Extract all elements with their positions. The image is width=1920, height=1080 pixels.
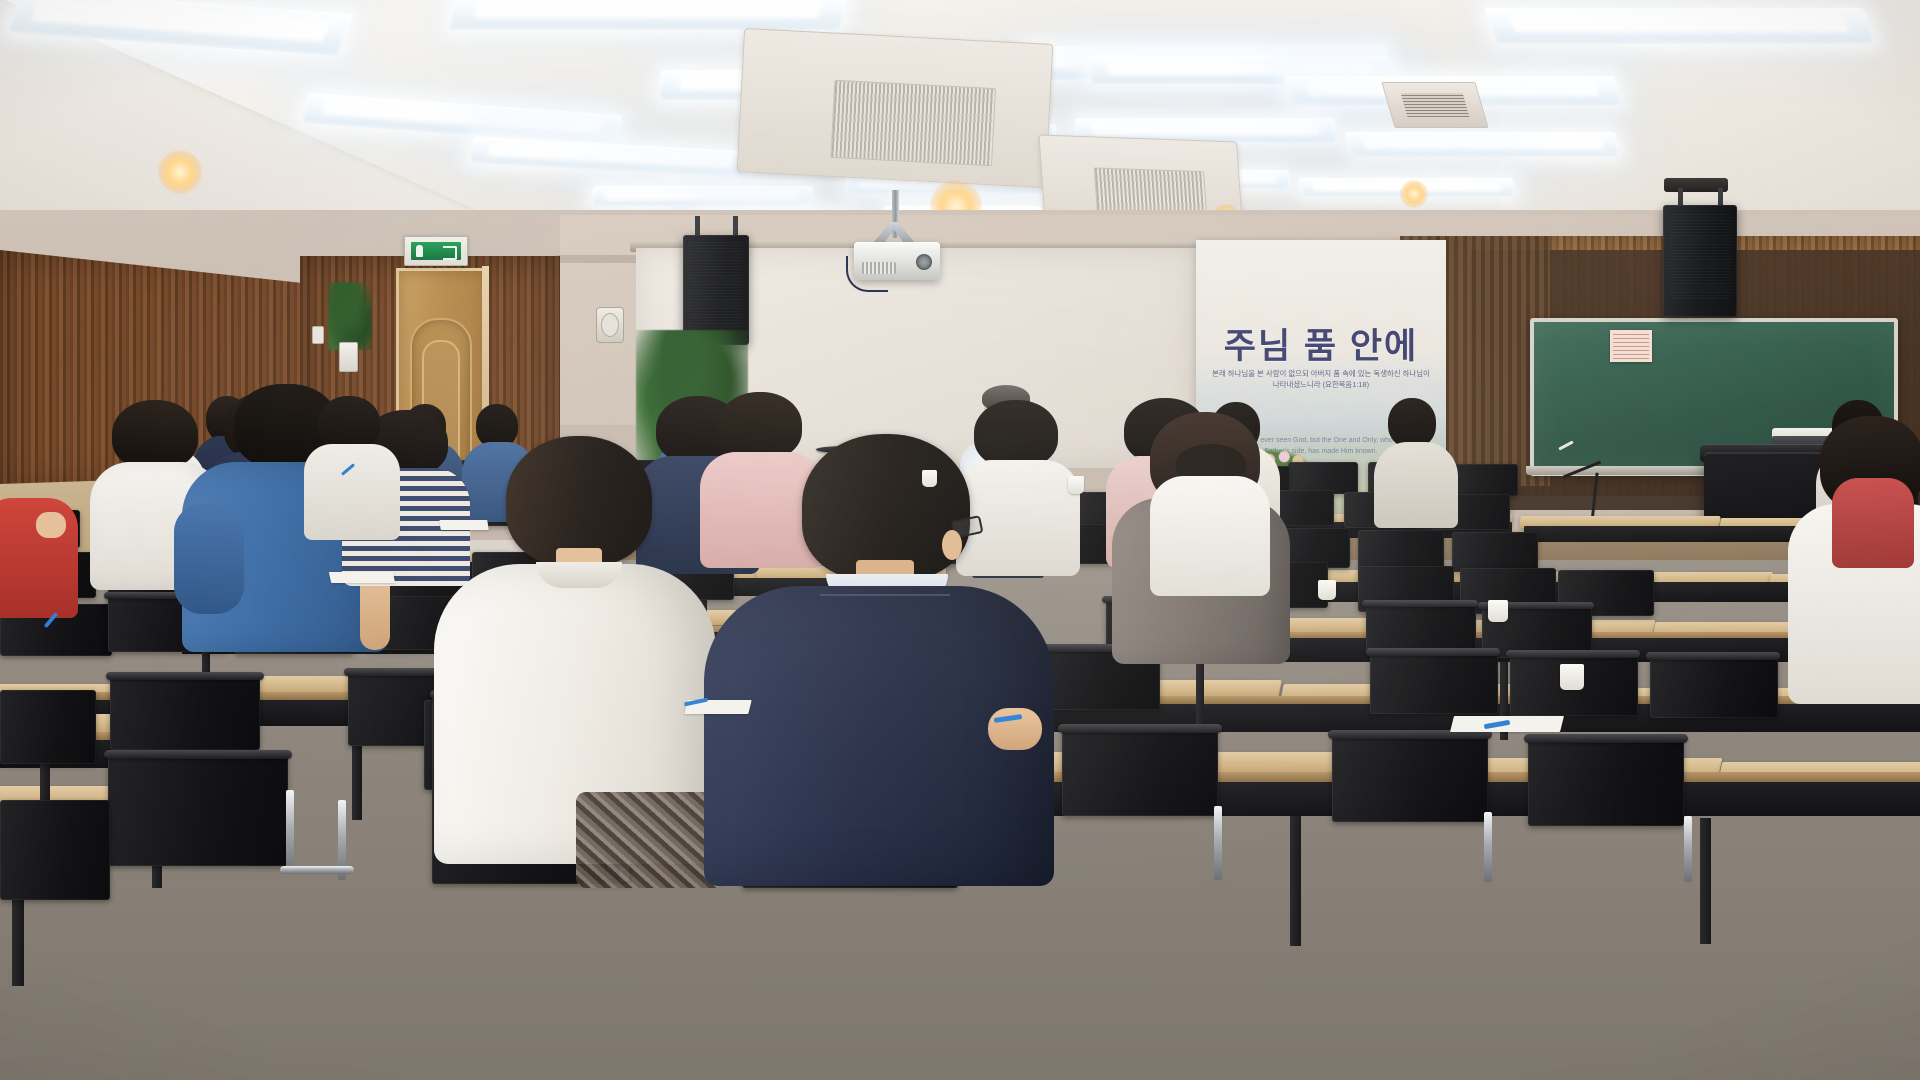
chair-leg bbox=[286, 790, 294, 874]
person-back-right-2 bbox=[1376, 398, 1448, 508]
chair[interactable] bbox=[1528, 740, 1684, 826]
chair-rail bbox=[1362, 600, 1478, 607]
ac-cassette bbox=[737, 28, 1054, 188]
paper-cup[interactable] bbox=[1318, 580, 1336, 600]
hair bbox=[112, 400, 198, 470]
hair bbox=[802, 434, 970, 580]
ceiling-vent bbox=[1381, 82, 1488, 128]
chair[interactable] bbox=[1332, 736, 1488, 822]
chair-rail bbox=[1506, 650, 1640, 658]
chair-leg bbox=[1684, 816, 1692, 882]
chair[interactable] bbox=[1370, 652, 1498, 714]
ac-grill bbox=[830, 80, 996, 166]
desk-leg bbox=[1700, 818, 1711, 944]
chair-rail bbox=[1058, 724, 1222, 733]
chair-caster bbox=[280, 866, 354, 874]
torso bbox=[1832, 478, 1914, 568]
chair[interactable] bbox=[110, 676, 260, 750]
chair[interactable] bbox=[108, 756, 288, 866]
hair bbox=[506, 436, 652, 566]
chair-rail bbox=[1524, 734, 1688, 743]
torso bbox=[1150, 476, 1270, 596]
person-white-shirt-behind bbox=[1150, 468, 1270, 608]
sleeve bbox=[174, 504, 244, 614]
chair-leg bbox=[1484, 812, 1492, 882]
wall-control-box[interactable] bbox=[339, 342, 358, 372]
torso bbox=[1374, 442, 1458, 528]
hanging-plant-icon bbox=[328, 282, 372, 350]
head bbox=[1388, 398, 1436, 448]
lecture-hall-photo: 주님 품 안에 본래 하나님을 본 사람이 없으되 아버지 품 속에 있는 독생… bbox=[0, 0, 1920, 1080]
chair[interactable] bbox=[1650, 656, 1778, 718]
banner-verse-korean: 본래 하나님을 본 사람이 없으되 아버지 품 속에 있는 독생하신 하나님이 … bbox=[1210, 368, 1432, 391]
chair[interactable] bbox=[1452, 532, 1538, 572]
notice-paper bbox=[1610, 330, 1652, 362]
ceiling-light bbox=[591, 186, 813, 206]
downlight bbox=[158, 150, 202, 194]
paper-sheet[interactable] bbox=[329, 572, 395, 583]
ceiling-light bbox=[449, 0, 848, 30]
exit-sign bbox=[404, 236, 468, 266]
person-right-red-small bbox=[1832, 454, 1914, 564]
ear bbox=[942, 530, 962, 560]
hand bbox=[36, 512, 66, 538]
torso bbox=[304, 444, 400, 540]
chair-rail bbox=[1366, 648, 1500, 656]
wall-speaker-right bbox=[1663, 205, 1737, 317]
person-foreground-man-navy-suit bbox=[716, 434, 1046, 884]
chair[interactable] bbox=[0, 800, 110, 900]
paper-sheet[interactable] bbox=[439, 520, 488, 530]
chair-rail bbox=[1646, 652, 1780, 660]
chair[interactable] bbox=[1448, 464, 1518, 496]
paper-cup[interactable] bbox=[922, 470, 937, 487]
chair-rail bbox=[104, 750, 292, 759]
person-foreground-woman-white bbox=[440, 436, 710, 886]
chair[interactable] bbox=[1062, 730, 1218, 816]
wall-clock-icon bbox=[596, 307, 624, 343]
ceiling-light bbox=[1483, 8, 1876, 44]
paper-cup[interactable] bbox=[1560, 664, 1584, 690]
chair[interactable] bbox=[1358, 530, 1444, 570]
person-mid-red bbox=[0, 478, 78, 618]
chair[interactable] bbox=[0, 690, 96, 764]
downlight bbox=[1400, 180, 1428, 208]
wall-switch[interactable] bbox=[312, 326, 324, 344]
exit-icon bbox=[411, 242, 461, 260]
hair bbox=[318, 396, 380, 450]
banner-title: 주님 품 안에 bbox=[1196, 318, 1446, 369]
ceiling-light bbox=[1345, 132, 1621, 157]
chair-leg bbox=[1214, 806, 1222, 880]
collar bbox=[536, 562, 622, 588]
wall-speaker-left bbox=[683, 235, 749, 345]
desk-leg bbox=[1290, 816, 1301, 946]
paper-cup[interactable] bbox=[1068, 476, 1084, 494]
paper-cup[interactable] bbox=[1488, 600, 1508, 622]
